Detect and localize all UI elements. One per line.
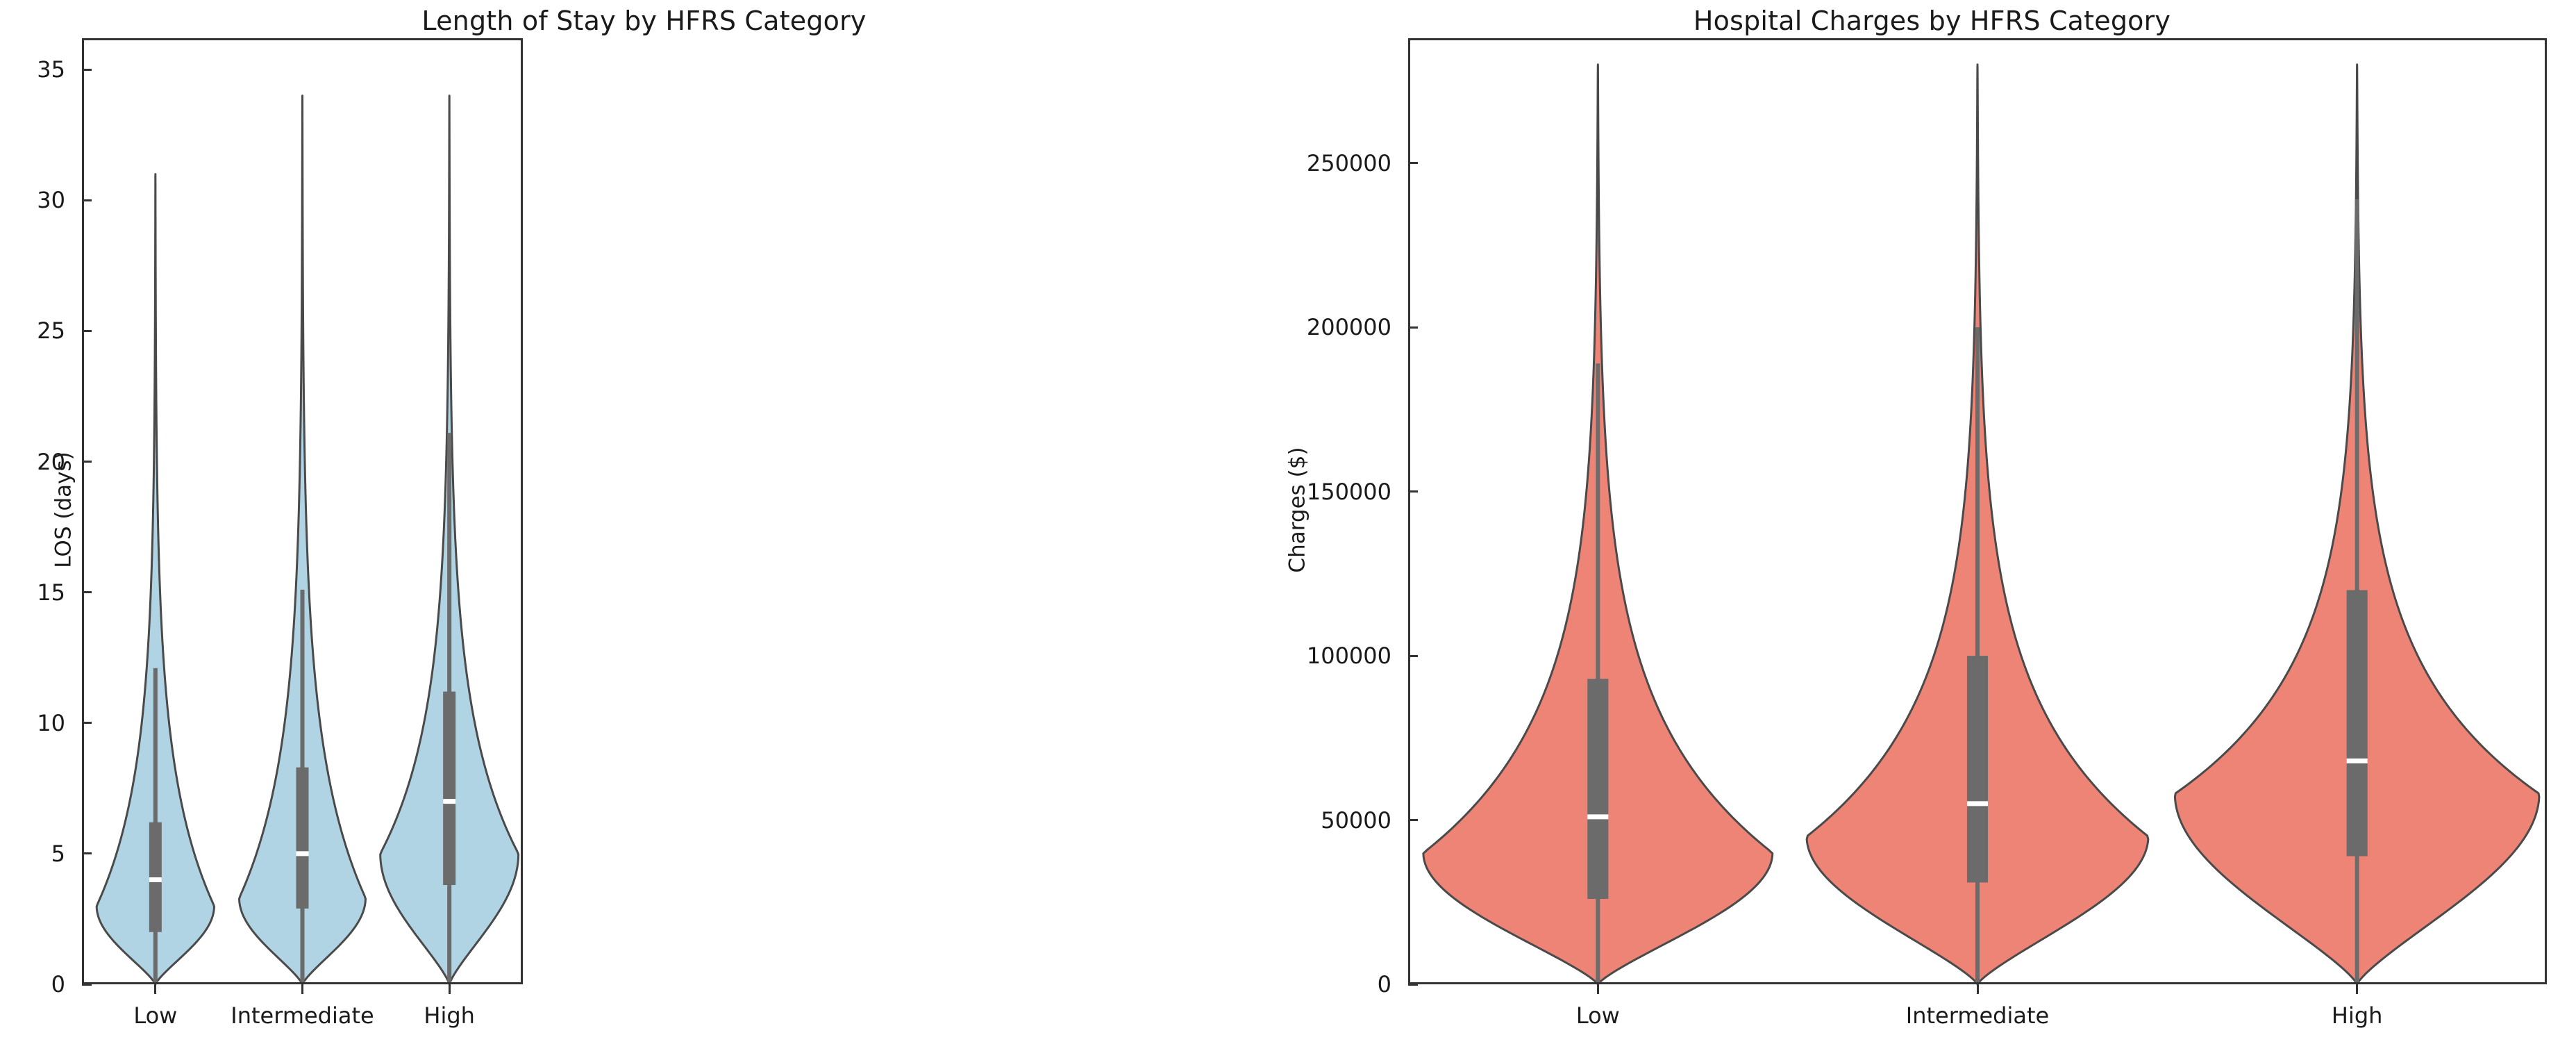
x-tick-mark — [1977, 984, 1979, 994]
y-tick-mark — [82, 984, 92, 986]
y-tick-label: 200000 — [1307, 314, 1391, 340]
y-tick-mark — [1408, 490, 1418, 493]
y-tick-mark — [1408, 655, 1418, 657]
iqr-box — [1587, 679, 1608, 899]
y-tick-mark — [1408, 984, 1418, 986]
y-tick-label: 10 — [37, 710, 65, 736]
y-tick-label: 25 — [37, 317, 65, 344]
y-tick-mark — [82, 199, 92, 201]
x-tick-mark — [301, 984, 303, 994]
y-tick-label: 100000 — [1307, 643, 1391, 669]
violin-figure: Length of Stay by HFRS Category LOS (day… — [0, 0, 2576, 1051]
panel-hospital-charges: Hospital Charges by HFRS Category Charge… — [1288, 0, 2576, 1051]
y-axis-label-right: Charges ($) — [1285, 447, 1310, 572]
x-tick-mark — [1597, 984, 1599, 994]
page-title-right: Hospital Charges by HFRS Category — [1288, 6, 2576, 36]
violin-canvas-right — [1408, 38, 2547, 984]
iqr-box — [149, 822, 162, 932]
y-tick-label: 15 — [37, 579, 65, 606]
y-tick-label: 5 — [51, 841, 65, 867]
x-tick-label: High — [2332, 1002, 2383, 1029]
y-tick-label: 20 — [37, 449, 65, 475]
x-tick-mark — [154, 984, 156, 994]
violin-canvas-left — [82, 38, 523, 984]
y-tick-mark — [82, 69, 92, 71]
iqr-box — [1967, 656, 1988, 882]
x-tick-label: High — [424, 1002, 475, 1029]
y-tick-label: 0 — [1378, 971, 1391, 998]
page-title-left: Length of Stay by HFRS Category — [0, 6, 1288, 36]
iqr-box — [2347, 590, 2368, 856]
x-tick-label: Low — [133, 1002, 177, 1029]
y-tick-label: 50000 — [1321, 807, 1391, 834]
x-tick-label: Low — [1576, 1002, 1620, 1029]
y-tick-mark — [82, 461, 92, 463]
x-tick-mark — [449, 984, 451, 994]
y-tick-mark — [1408, 162, 1418, 164]
iqr-box — [443, 692, 455, 885]
x-tick-label: Intermediate — [231, 1002, 374, 1029]
x-tick-mark — [2356, 984, 2358, 994]
y-tick-mark — [82, 852, 92, 854]
y-tick-mark — [1408, 326, 1418, 329]
y-tick-label: 35 — [37, 56, 65, 83]
y-tick-label: 250000 — [1307, 150, 1391, 176]
y-tick-mark — [82, 722, 92, 724]
y-tick-label: 150000 — [1307, 479, 1391, 505]
y-tick-mark — [1408, 819, 1418, 821]
y-tick-mark — [82, 591, 92, 593]
x-tick-label: Intermediate — [1906, 1002, 2049, 1029]
panel-length-of-stay: Length of Stay by HFRS Category LOS (day… — [0, 0, 1288, 1051]
y-tick-label: 0 — [51, 971, 65, 998]
iqr-box — [296, 768, 309, 909]
y-tick-mark — [82, 330, 92, 332]
plot-area-right — [1408, 38, 2547, 984]
y-tick-label: 30 — [37, 187, 65, 213]
plot-area-left — [82, 38, 523, 984]
